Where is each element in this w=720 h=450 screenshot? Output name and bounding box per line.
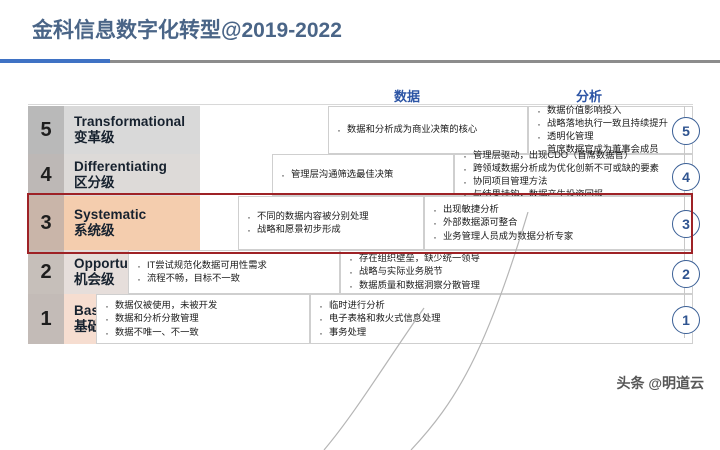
maturity-row-level-4: 4 Differentiating 区分级 管理层沟通筛选最佳决策 管理层驱动，… (28, 154, 693, 196)
list-item: 跨领域数据分析成为优化创新不可或缺的要素 (461, 162, 688, 175)
list-item: 数据价值影响投入 (535, 104, 688, 117)
highlight-box-level-3 (27, 193, 693, 254)
level-name-en-4: Differentiating (74, 159, 200, 175)
column-header-analysis: 分析 (576, 86, 602, 105)
maturity-row-level-5: 5 Transformational 变革级 数据和分析成为商业决策的核心 数据… (28, 106, 693, 154)
list-item: IT尝试规范化数据可用性需求 (135, 259, 335, 272)
level-badge-2: 2 (672, 260, 700, 288)
maturity-row-level-2: 2 Opportunistic 机会级 IT尝试规范化数据可用性需求 流程不畅，… (28, 250, 693, 294)
level-badge-5: 5 (672, 117, 700, 145)
level-number-2: 2 (28, 250, 64, 294)
level-name-zh-4: 区分级 (74, 175, 200, 191)
list-item: 战略落地执行一致且持续提升 (535, 117, 688, 130)
maturity-row-level-1: 1 Basic 基础级 数据仅被使用，未被开发 数据和分析分散管理 数据不唯一、… (28, 294, 693, 344)
level-number-4: 4 (28, 154, 64, 196)
list-item: 临时进行分析 (317, 299, 688, 312)
header-divider-blue-accent (0, 59, 110, 63)
list-item: 流程不畅，目标不一致 (135, 272, 335, 285)
list-item: 数据不唯一、不一致 (103, 326, 305, 339)
list-item: 战略与实际业务脱节 (347, 265, 688, 278)
data-cell-level-2: IT尝试规范化数据可用性需求 流程不畅，目标不一致 (128, 250, 340, 294)
level-number-1: 1 (28, 294, 64, 344)
list-item: 管理层沟通筛选最佳决策 (279, 168, 449, 181)
list-item: 数据和分析分散管理 (103, 312, 305, 325)
page-title: 金科信息数字化转型@2019-2022 (32, 14, 342, 44)
analysis-cell-level-1: 临时进行分析 电子表格和救火式信息处理 事务处理 (310, 294, 693, 344)
list-item: 协同项目管理方法 (461, 175, 688, 188)
data-cell-level-4: 管理层沟通筛选最佳决策 (272, 154, 454, 196)
list-item: 管理层驱动，出现CDO（首席数据官） (461, 149, 688, 162)
list-item: 存在组织壁垒，缺少统一领导 (347, 252, 688, 265)
level-badge-1: 1 (672, 306, 700, 334)
level-name-zh-5: 变革级 (74, 130, 200, 146)
list-item: 事务处理 (317, 326, 688, 339)
level-label-5: Transformational 变革级 (64, 106, 200, 154)
list-item: 透明化管理 (535, 130, 688, 143)
list-item: 电子表格和救火式信息处理 (317, 312, 688, 325)
level-label-4: Differentiating 区分级 (64, 154, 200, 196)
level-badge-4: 4 (672, 163, 700, 191)
list-item: 数据和分析成为商业决策的核心 (335, 123, 523, 136)
level-number-5: 5 (28, 106, 64, 154)
watermark: 头条 @明道云 (616, 373, 704, 393)
list-item: 数据质量和数据洞察分散管理 (347, 279, 688, 292)
data-cell-level-5: 数据和分析成为商业决策的核心 (328, 106, 528, 154)
column-header-data: 数据 (394, 86, 420, 105)
analysis-cell-level-4: 管理层驱动，出现CDO（首席数据官） 跨领域数据分析成为优化创新不可或缺的要素 … (454, 154, 693, 196)
analysis-cell-level-5: 数据价值影响投入 战略落地执行一致且持续提升 透明化管理 首席数据官成为董事会成… (528, 106, 693, 154)
level-name-en-5: Transformational (74, 114, 200, 130)
list-item: 数据仅被使用，未被开发 (103, 299, 305, 312)
analysis-cell-level-2: 存在组织壁垒，缺少统一领导 战略与实际业务脱节 数据质量和数据洞察分散管理 (340, 250, 693, 294)
data-cell-level-1: 数据仅被使用，未被开发 数据和分析分散管理 数据不唯一、不一致 (96, 294, 310, 344)
slide-canvas: 金科信息数字化转型@2019-2022 数据 分析 5 Transformati… (0, 0, 720, 405)
